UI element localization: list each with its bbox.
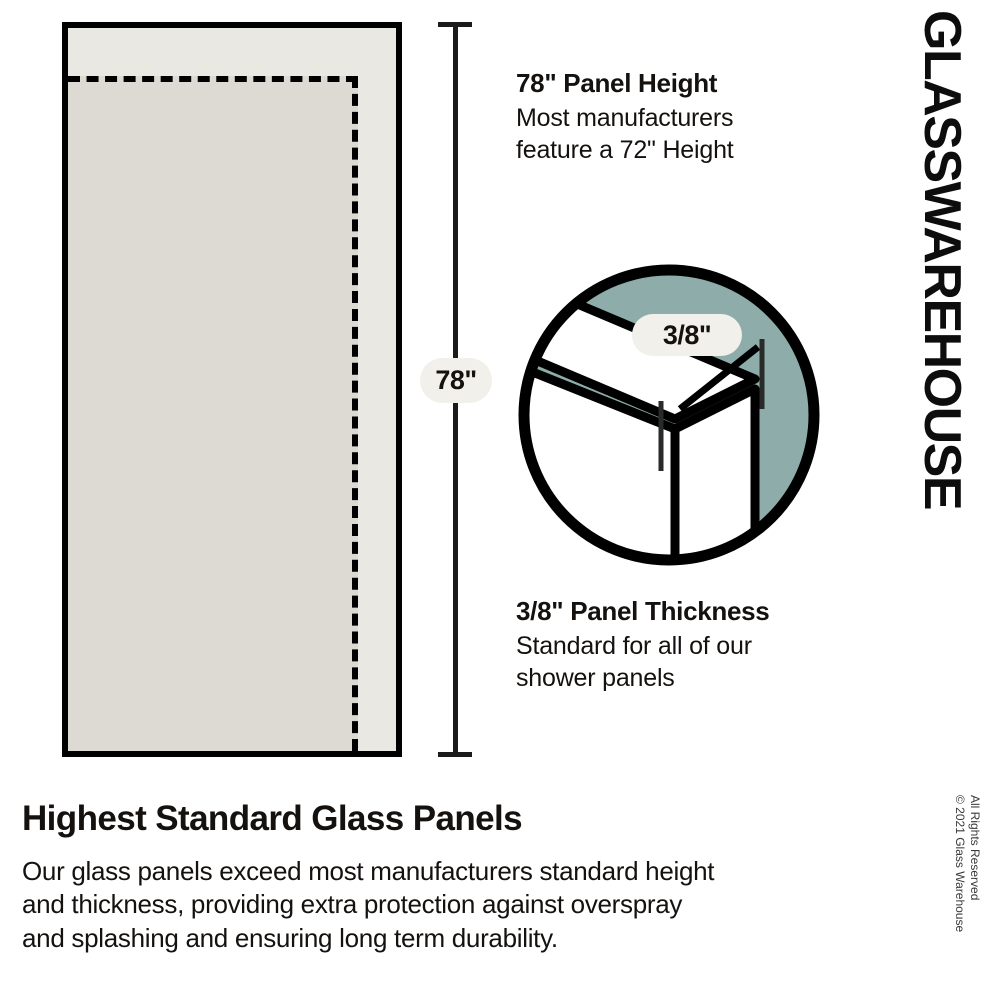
- copyright-line-2: All Rights Reserved: [967, 795, 982, 900]
- copyright-notice: © 2021 Glass Warehouse All Rights Reserv…: [938, 795, 978, 975]
- callout-panel-thickness-headline: 3/8" Panel Thickness: [516, 596, 846, 627]
- summary-line-2: and thickness, providing extra protectio…: [22, 888, 892, 922]
- panel-height-badge: 78": [420, 358, 492, 403]
- infographic-canvas: 78" 78" Panel Height Most manufacturers …: [0, 0, 982, 990]
- callout-panel-thickness: 3/8" Panel Thickness Standard for all of…: [516, 596, 846, 694]
- summary-line-1: Our glass panels exceed most manufacture…: [22, 855, 892, 889]
- panel-thickness-diagram: [515, 261, 823, 569]
- callout-panel-thickness-line-1: Standard for all of our: [516, 630, 846, 662]
- summary-block: Highest Standard Glass Panels Our glass …: [22, 800, 892, 956]
- dimension-cap-bottom: [438, 752, 472, 757]
- callout-panel-height-headline: 78" Panel Height: [516, 68, 846, 99]
- callout-panel-thickness-line-2: shower panels: [516, 662, 846, 694]
- brand-wordmark-text: GLASSWAREHOUSE: [912, 10, 972, 509]
- copyright-line-1: © 2021 Glass Warehouse: [952, 795, 968, 932]
- standard-height-dashed-region: [68, 76, 358, 751]
- summary-line-3: and splashing and ensuring long term dur…: [22, 922, 892, 956]
- brand-wordmark: GLASSWAREHOUSE: [914, 8, 980, 588]
- summary-title: Highest Standard Glass Panels: [22, 800, 892, 839]
- panel-thickness-badge: 3/8": [632, 314, 742, 356]
- callout-panel-height-line-1: Most manufacturers: [516, 102, 846, 134]
- callout-panel-height: 78" Panel Height Most manufacturers feat…: [516, 68, 846, 166]
- callout-panel-height-line-2: feature a 72" Height: [516, 134, 846, 166]
- glass-panel-illustration: [62, 22, 402, 757]
